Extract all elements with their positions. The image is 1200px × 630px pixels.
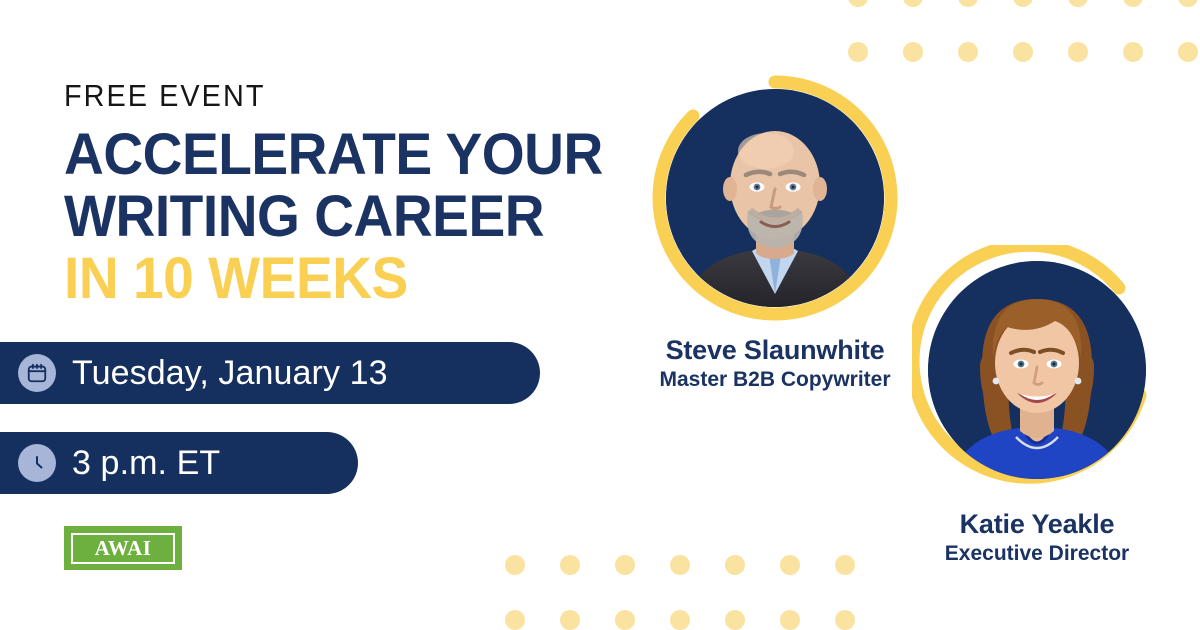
awai-logo-text: AWAI	[95, 536, 152, 561]
event-promo-banner: FREE EVENT ACCELERATE YOUR WRITING CAREE…	[0, 0, 1200, 630]
headline-line-2: WRITING CAREER	[64, 186, 672, 248]
clock-icon	[18, 444, 56, 482]
decorative-dot	[835, 555, 855, 575]
decorative-dot	[560, 555, 580, 575]
speaker-role: Executive Director	[887, 542, 1187, 566]
decorative-dot	[958, 0, 978, 7]
decorative-dot	[1178, 42, 1198, 62]
portrait-steve-slaunwhite	[650, 73, 900, 323]
decorative-dot	[1013, 42, 1033, 62]
decorative-dot	[848, 42, 868, 62]
decorative-dot	[725, 555, 745, 575]
decorative-dot	[1013, 0, 1033, 7]
decorative-dot	[670, 610, 690, 630]
decorative-dot	[1123, 0, 1143, 7]
speaker-card-katie: Katie Yeakle Executive Director	[912, 245, 1187, 566]
speaker-name: Steve Slaunwhite	[625, 335, 925, 366]
headline-line-1: ACCELERATE YOUR	[64, 124, 672, 186]
decorative-dot	[958, 42, 978, 62]
decorative-dot	[903, 0, 923, 7]
decorative-dot	[1068, 42, 1088, 62]
decorative-dot	[780, 610, 800, 630]
decorative-dot	[835, 610, 855, 630]
decorative-dot	[505, 555, 525, 575]
decorative-dot	[780, 555, 800, 575]
decorative-dot	[1123, 42, 1143, 62]
calendar-icon	[18, 354, 56, 392]
speaker-name: Katie Yeakle	[887, 509, 1187, 540]
portrait-disc	[666, 89, 884, 307]
awai-logo: AWAI	[64, 526, 182, 570]
event-time-label: 3 p.m. ET	[72, 444, 220, 483]
photo-steve-slaunwhite	[666, 89, 884, 307]
decorative-dot	[1068, 0, 1088, 7]
headline-line-3: IN 10 WEEKS	[64, 248, 672, 310]
decorative-dot	[615, 610, 635, 630]
event-date-label: Tuesday, January 13	[72, 354, 388, 393]
speaker-text-steve: Steve Slaunwhite Master B2B Copywriter	[650, 335, 900, 392]
decorative-dot	[903, 42, 923, 62]
decorative-dot	[505, 610, 525, 630]
event-date-pill: Tuesday, January 13	[0, 342, 540, 404]
decorative-dot	[848, 0, 868, 7]
photo-katie-yeakle	[928, 261, 1146, 479]
speaker-role: Master B2B Copywriter	[625, 368, 925, 392]
event-time-pill: 3 p.m. ET	[0, 432, 358, 494]
page-title: ACCELERATE YOUR WRITING CAREER IN 10 WEE…	[64, 124, 704, 310]
decorative-dot	[615, 555, 635, 575]
decorative-dot	[670, 555, 690, 575]
speaker-card-steve: Steve Slaunwhite Master B2B Copywriter	[650, 73, 900, 392]
portrait-katie-yeakle	[912, 245, 1162, 495]
decorative-dot	[725, 610, 745, 630]
eyebrow-label: FREE EVENT	[64, 78, 265, 114]
speaker-text-katie: Katie Yeakle Executive Director	[912, 509, 1187, 566]
portrait-disc	[928, 261, 1146, 479]
decorative-dot	[560, 610, 580, 630]
awai-logo-inner-border: AWAI	[71, 533, 175, 564]
decorative-dot	[1178, 0, 1198, 7]
